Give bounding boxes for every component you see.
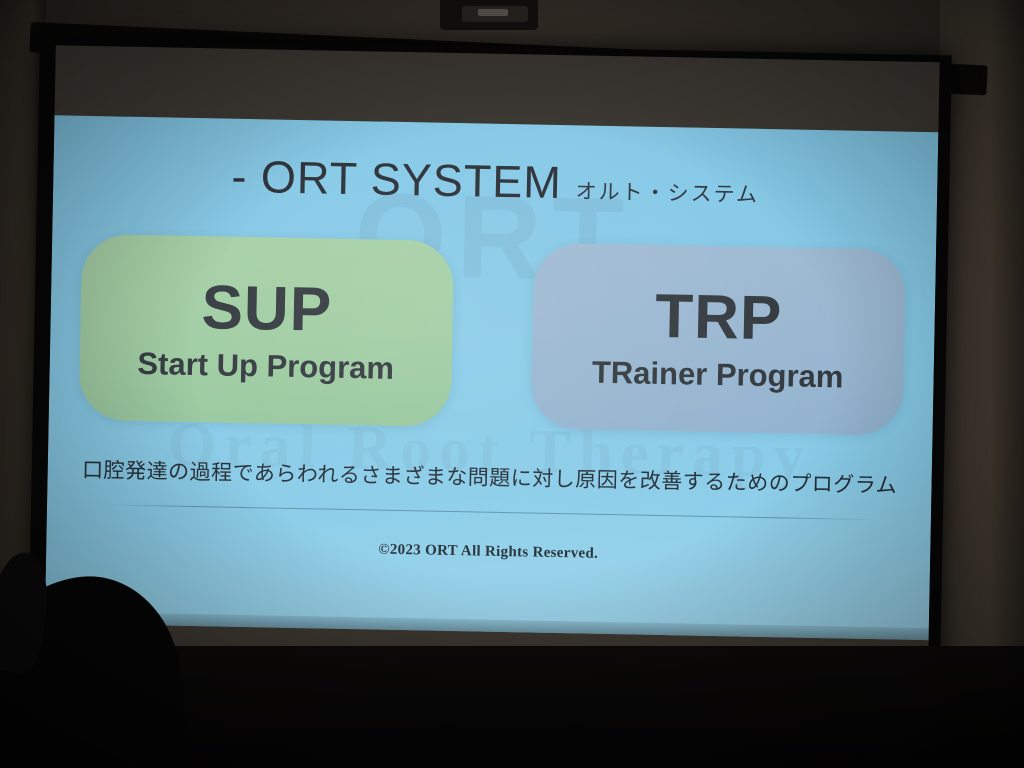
program-card-trp[interactable]: TRP TRainer Program bbox=[531, 243, 907, 436]
copyright-notice: ©2023 ORT All Rights Reserved. bbox=[46, 535, 930, 569]
page-title-katakana: オルト・システム bbox=[575, 175, 759, 209]
program-card-sup-code: SUP bbox=[201, 276, 333, 344]
projector-mount-highlight bbox=[478, 9, 508, 16]
presentation-slide: ORT Oral Root Therapy - ORT SYSTEM オルト・シ… bbox=[45, 115, 939, 640]
program-card-sup-name: Start Up Program bbox=[137, 345, 394, 386]
page-title: - ORT SYSTEM bbox=[231, 151, 562, 209]
slide-bottom-shading bbox=[45, 611, 929, 640]
program-card-trp-name: TRainer Program bbox=[592, 354, 844, 395]
program-card-group: SUP Start Up Program TRP TRainer Program bbox=[79, 234, 906, 436]
program-card-sup[interactable]: SUP Start Up Program bbox=[79, 234, 455, 427]
projection-screen-surface: ORT Oral Root Therapy - ORT SYSTEM オルト・シ… bbox=[44, 45, 940, 670]
projection-screen-frame: ORT Oral Root Therapy - ORT SYSTEM オルト・シ… bbox=[28, 38, 952, 681]
footer-divider bbox=[105, 504, 875, 520]
program-card-trp-code: TRP bbox=[655, 284, 783, 352]
photo-of-projection-screen: ORT Oral Root Therapy - ORT SYSTEM オルト・シ… bbox=[0, 0, 1024, 768]
